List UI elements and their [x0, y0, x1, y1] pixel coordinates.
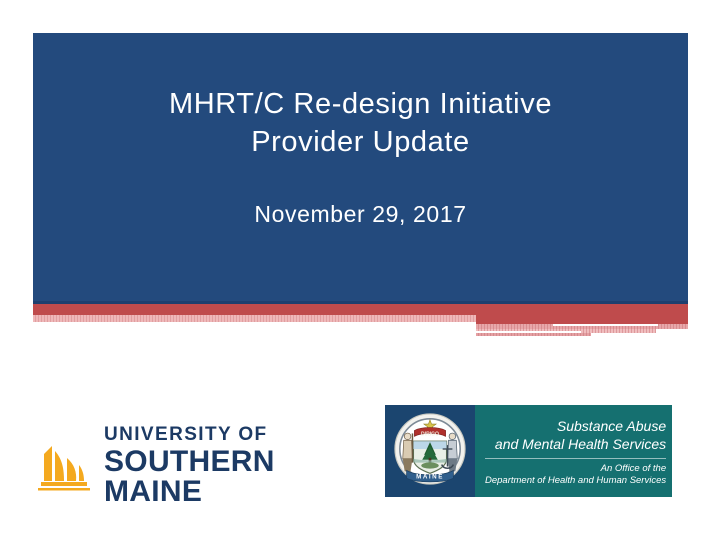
usm-wordmark: UNIVERSITY OF SOUTHERN MAINE — [104, 425, 328, 507]
samhs-divider — [485, 458, 666, 459]
samhs-subtitle-line-2: Department of Health and Human Services — [485, 475, 666, 487]
stripe-hatch-row-4 — [476, 333, 591, 336]
seal-motto-text: DIRIGO — [421, 431, 439, 437]
samhs-seal-panel: DIRIGO MAINE — [385, 405, 475, 497]
stripe-hatch-row-1 — [33, 315, 476, 322]
seal-state-text: MAINE — [416, 473, 444, 480]
samhs-text-panel: Substance Abuse and Mental Health Servic… — [475, 405, 672, 497]
university-of-southern-maine-logo: UNIVERSITY OF SOUTHERN MAINE — [38, 432, 328, 500]
samhs-title-line-1: Substance Abuse — [557, 417, 666, 435]
title-line-2: Provider Update — [33, 123, 688, 161]
title-text-block: MHRT/C Re-design Initiative Provider Upd… — [33, 85, 688, 229]
usm-lighthouse-icon — [38, 438, 92, 494]
usm-wordmark-line-1: UNIVERSITY OF — [104, 425, 328, 444]
stripe-red-bar — [33, 304, 688, 315]
stripe-red-bar-right — [476, 315, 688, 324]
title-line-1: MHRT/C Re-design Initiative — [33, 85, 688, 123]
maine-state-seal-icon: DIRIGO MAINE — [393, 412, 467, 491]
title-banner: MHRT/C Re-design Initiative Provider Upd… — [33, 33, 688, 301]
usm-wordmark-line-2: SOUTHERN MAINE — [104, 447, 328, 507]
samhs-title-line-2: and Mental Health Services — [495, 435, 666, 453]
samhs-subtitle-line-1: An Office of the — [601, 463, 666, 475]
decorative-stripe-band — [33, 301, 688, 335]
stripe-highlight-1 — [553, 324, 658, 326]
presentation-date: November 29, 2017 — [33, 199, 688, 229]
presentation-slide: MHRT/C Re-design Initiative Provider Upd… — [0, 0, 720, 557]
samhs-logo: DIRIGO MAINE Substance Abuse and Mental … — [385, 405, 672, 497]
